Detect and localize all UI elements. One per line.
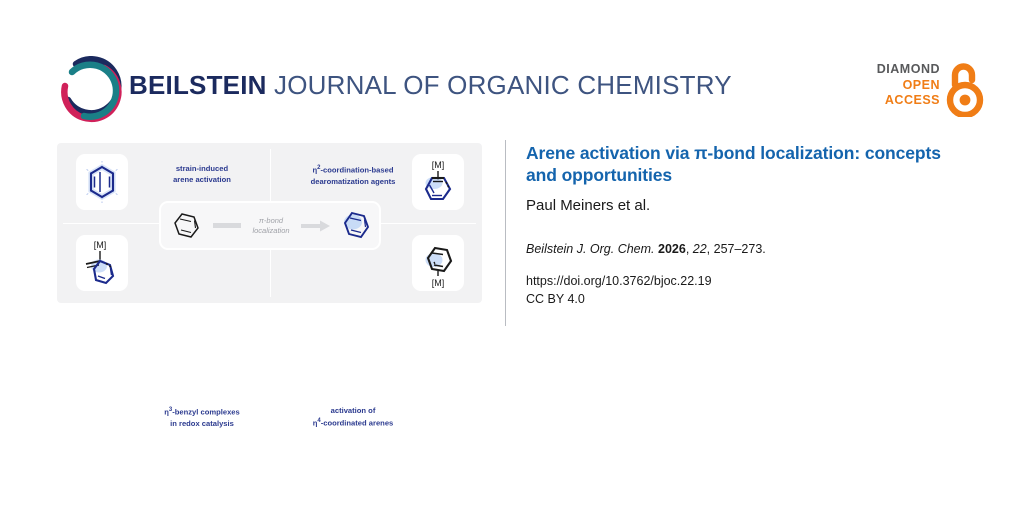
- oa-line-open: OPEN: [877, 78, 940, 94]
- quadrant-label-eta2-dearomatization: η2-coordination-baseddearomatization age…: [286, 163, 420, 187]
- benzene-delocalized-structure: [161, 203, 209, 248]
- caption-line-1: π-bond: [241, 216, 301, 226]
- caption-line-2: localization: [241, 226, 301, 236]
- svg-text:[M]: [M]: [432, 278, 445, 288]
- wordmark-bold: BEILSTEIN: [129, 70, 267, 100]
- svg-text:[M]: [M]: [94, 240, 107, 250]
- benzene-localized-structure: [331, 203, 379, 248]
- citation-year: 2026: [658, 242, 686, 256]
- center-transformation-box: π-bond localization: [161, 203, 379, 248]
- journal-wordmark: BEILSTEIN JOURNAL OF ORGANIC CHEMISTRY: [129, 70, 732, 101]
- structure-card-eta3-benzyl-complex: [M]: [76, 235, 128, 291]
- diamond-open-access-badge: DIAMOND OPEN ACCESS: [866, 62, 986, 120]
- beilstein-circles-logo-icon: [54, 56, 126, 124]
- quadrant-label-strain-induced: strain-inducedarene activation: [139, 163, 265, 185]
- oa-line-diamond: DIAMOND: [877, 62, 940, 78]
- article-authors: Paul Meiners et al.: [526, 197, 966, 215]
- citation-pages: 257–273.: [714, 242, 766, 256]
- citation-sep-2: ,: [686, 242, 693, 256]
- structure-card-strained-benzene: [76, 154, 128, 210]
- structure-card-eta4-coordinated-arene: [M]: [412, 235, 464, 291]
- open-access-unlocked-padlock-icon: [944, 63, 986, 117]
- reaction-line: [213, 223, 241, 228]
- open-access-text: DIAMOND OPEN ACCESS: [877, 62, 940, 109]
- quadrant-label-eta3-benzyl: η3-benzyl complexesin redox catalysis: [139, 405, 265, 429]
- citation-sep-3: ,: [707, 242, 714, 256]
- masthead: BEILSTEIN JOURNAL OF ORGANIC CHEMISTRY D…: [0, 0, 1024, 135]
- article-title[interactable]: Arene activation via π-bond localization…: [526, 143, 966, 186]
- quadrant-label-eta4-activation: activation ofη4-coordinated arenes: [286, 405, 420, 429]
- svg-text:[M]: [M]: [432, 160, 445, 170]
- citation-volume: 22: [693, 242, 707, 256]
- oa-line-access: ACCESS: [877, 93, 940, 109]
- graphical-abstract: [M] [M]: [57, 143, 482, 303]
- citation-journal: Beilstein J. Org. Chem.: [526, 242, 655, 256]
- right-arrow-icon: [301, 220, 331, 232]
- article-meta: Arene activation via π-bond localization…: [526, 143, 966, 308]
- article-doi[interactable]: https://doi.org/10.3762/bjoc.22.19: [526, 272, 966, 290]
- wordmark-light: JOURNAL OF ORGANIC CHEMISTRY: [267, 70, 732, 100]
- article-license[interactable]: CC BY 4.0: [526, 290, 966, 308]
- column-divider: [505, 140, 506, 326]
- transformation-caption: π-bond localization: [241, 216, 301, 236]
- article-citation: Beilstein J. Org. Chem. 2026, 22, 257–27…: [526, 241, 966, 257]
